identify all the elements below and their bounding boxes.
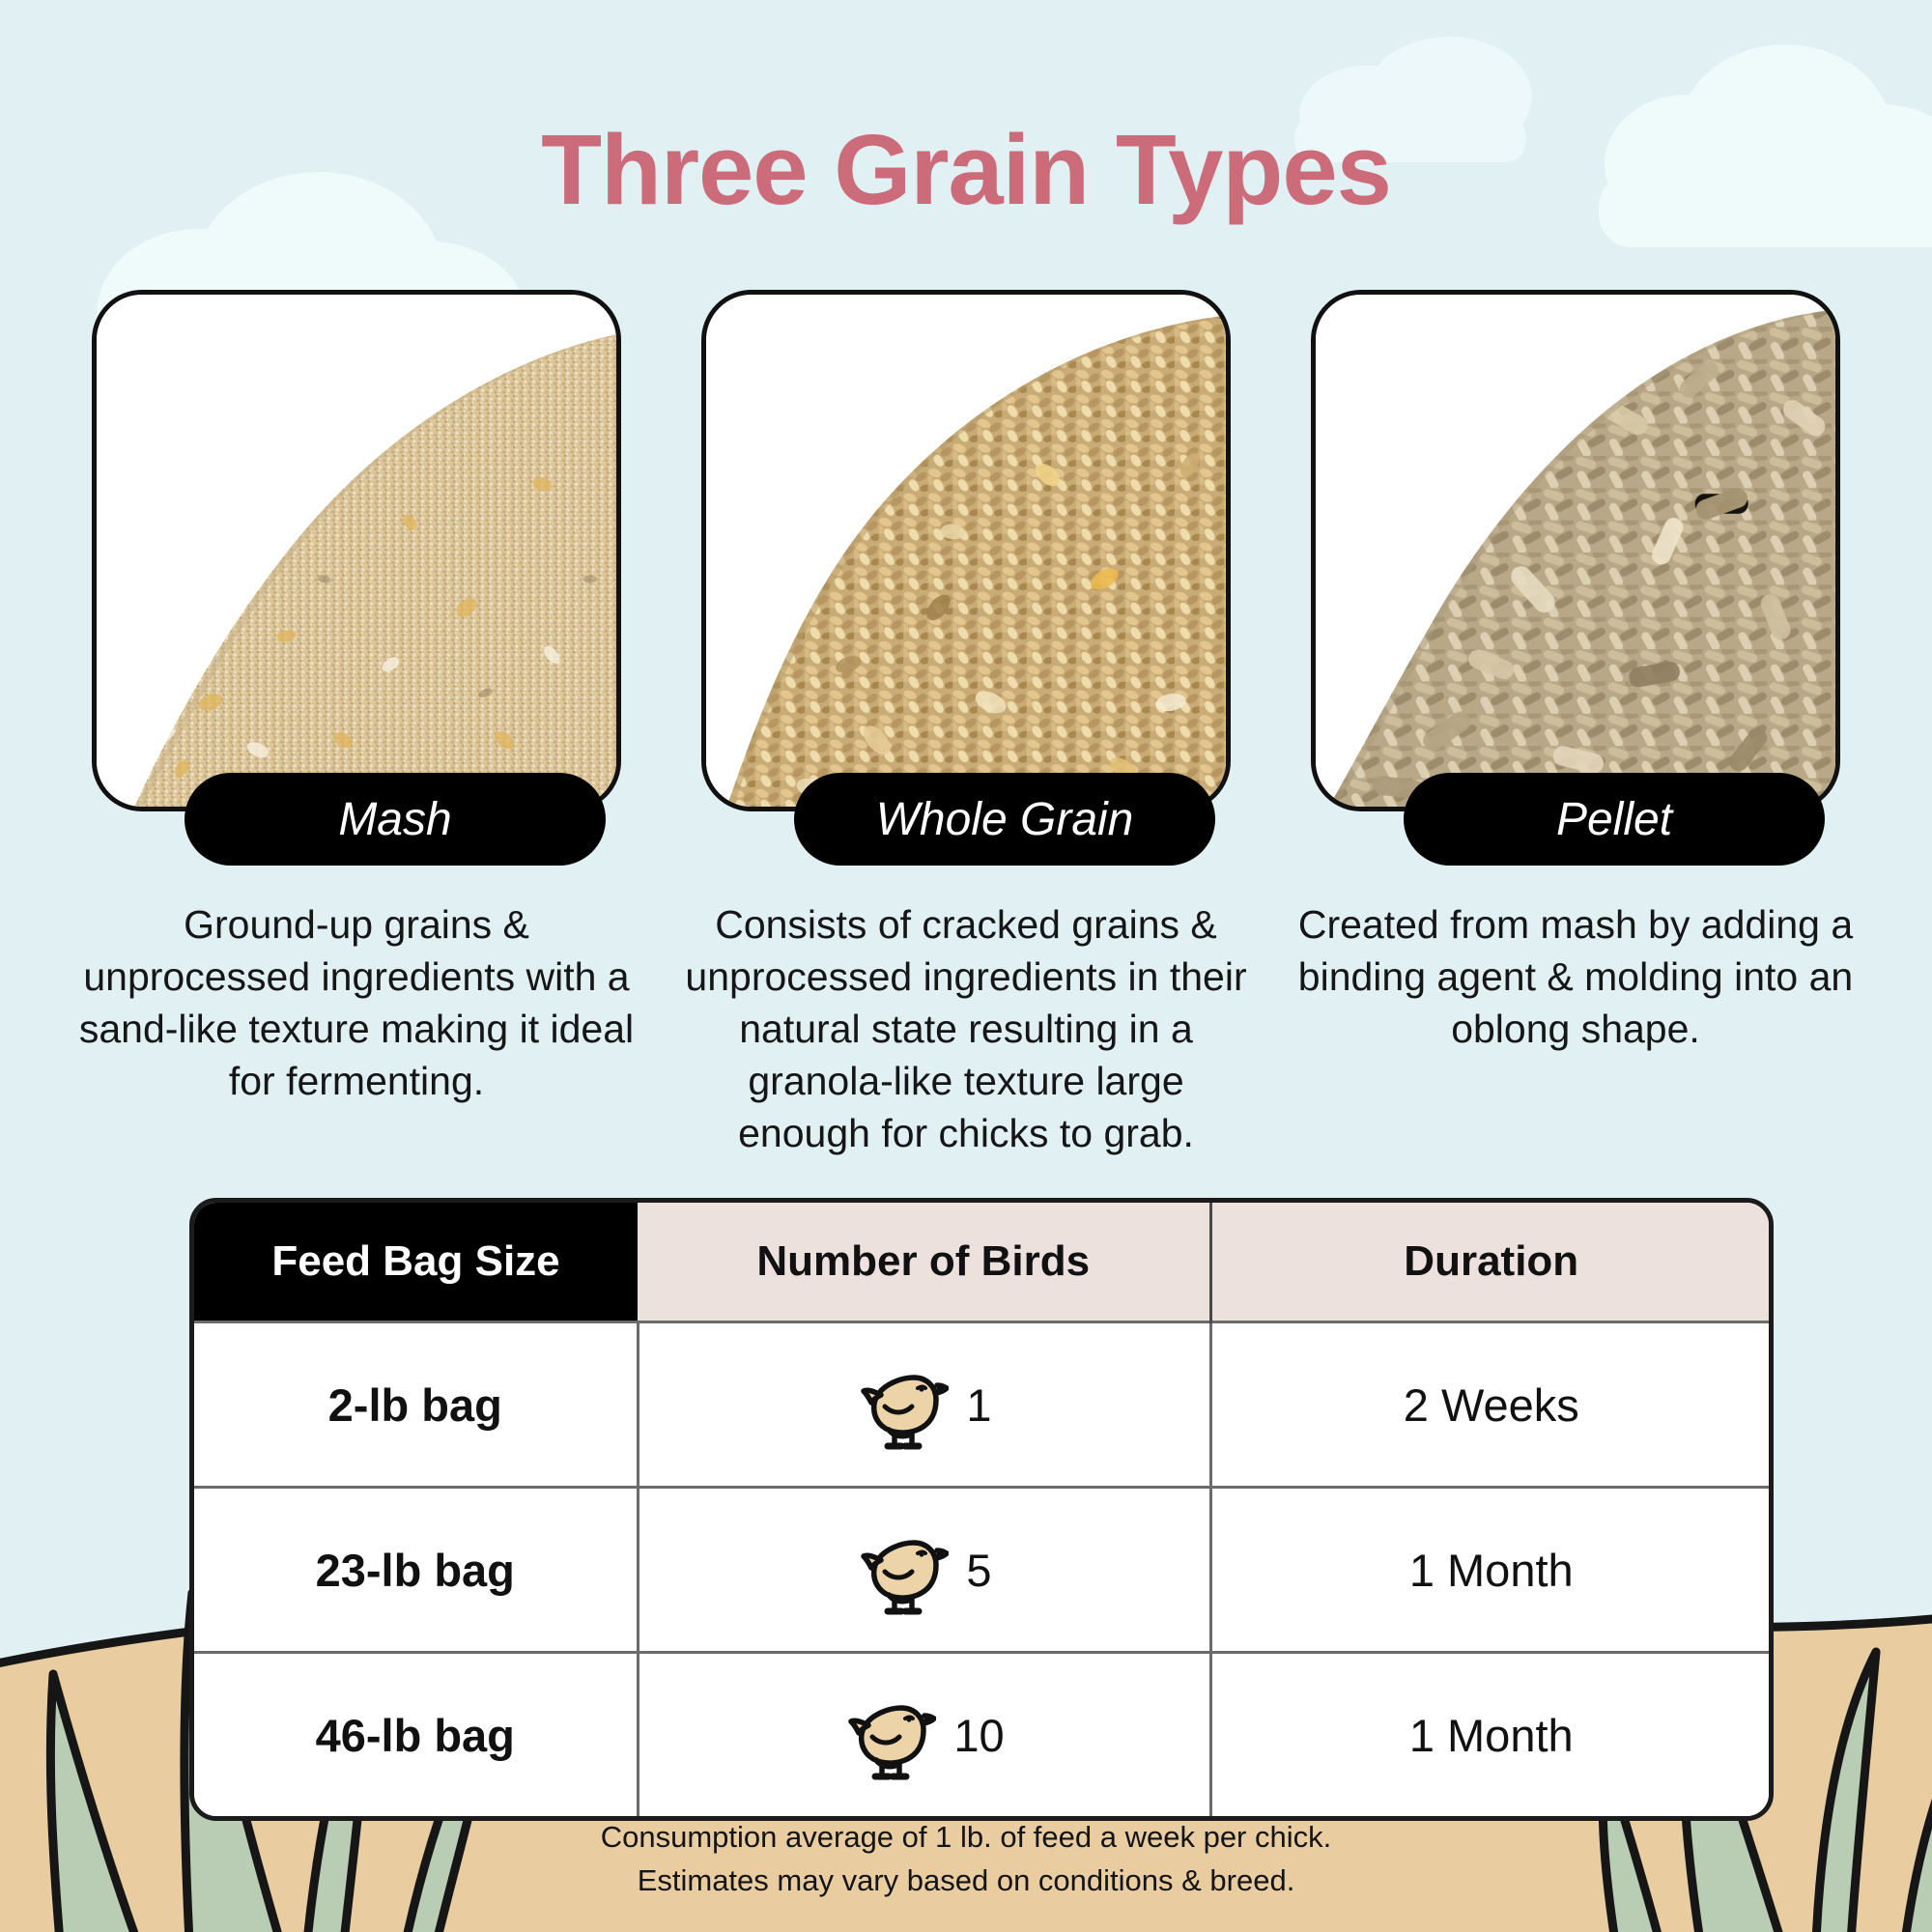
cell-number-of-birds: 1: [638, 1322, 1210, 1488]
grain-description-whole-grain: Consists of cracked grains & unprocessed…: [684, 898, 1248, 1160]
pellet-feed-photo: [1316, 295, 1835, 807]
chick-icon: [856, 1356, 949, 1453]
table-header-number-of-birds: Number of Birds: [638, 1203, 1210, 1322]
grain-label-text: Mash: [338, 793, 451, 846]
cell-number-of-birds: 5: [638, 1488, 1210, 1653]
footnote-line-1: Consumption average of 1 lb. of feed a w…: [0, 1816, 1932, 1860]
grain-description-pellet: Created from mash by adding a binding ag…: [1293, 898, 1858, 1055]
table-header-row: Feed Bag Size Number of Birds Duration: [194, 1203, 1771, 1322]
cell-bag-size: 2-lb bag: [194, 1322, 638, 1488]
birds-count: 10: [953, 1709, 1004, 1762]
grain-label-pill-whole-grain: Whole Grain: [794, 773, 1215, 866]
grain-label-pill-pellet: Pellet: [1404, 773, 1825, 866]
footnote: Consumption average of 1 lb. of feed a w…: [0, 1816, 1932, 1903]
cell-duration: 1 Month: [1210, 1653, 1771, 1817]
whole-grain-photo-frame: [701, 290, 1231, 811]
whole-grain-feed-photo: [706, 295, 1226, 807]
table-row: 46-lb bag: [194, 1653, 1771, 1817]
table-header-feed-bag-size: Feed Bag Size: [194, 1203, 638, 1322]
chick-icon: [856, 1521, 949, 1618]
grain-label-text: Pellet: [1556, 793, 1672, 846]
grain-description-mash: Ground-up grains & unprocessed ingredien…: [74, 898, 639, 1107]
infographic-canvas: Three Grain Types: [0, 0, 1932, 1932]
grain-label-pill-mash: Mash: [185, 773, 606, 866]
grain-card-mash: Mash Ground-up grains & unprocessed ingr…: [92, 290, 621, 811]
grain-card-pellet: Pellet Created from mash by adding a bin…: [1311, 290, 1840, 811]
mash-feed-photo: [97, 295, 616, 807]
table-row: 2-lb bag: [194, 1322, 1771, 1488]
footnote-line-2: Estimates may vary based on conditions &…: [0, 1860, 1932, 1903]
birds-count: 5: [966, 1544, 991, 1597]
cell-bag-size: 23-lb bag: [194, 1488, 638, 1653]
grain-card-whole-grain: Whole Grain Consists of cracked grains &…: [701, 290, 1231, 811]
table-row: 23-lb bag: [194, 1488, 1771, 1653]
table-header-duration: Duration: [1210, 1203, 1771, 1322]
grain-cards-row: Mash Ground-up grains & unprocessed ingr…: [92, 290, 1840, 811]
pellet-photo-frame: [1311, 290, 1840, 811]
chick-icon: [843, 1687, 936, 1783]
cell-duration: 2 Weeks: [1210, 1322, 1771, 1488]
cell-bag-size: 46-lb bag: [194, 1653, 638, 1817]
grain-label-text: Whole Grain: [876, 793, 1134, 846]
cell-number-of-birds: 10: [638, 1653, 1210, 1817]
page-title: Three Grain Types: [0, 118, 1932, 222]
feed-bag-table: Feed Bag Size Number of Birds Duration 2…: [189, 1198, 1774, 1821]
birds-count: 1: [966, 1378, 991, 1432]
mash-photo-frame: [92, 290, 621, 811]
cell-duration: 1 Month: [1210, 1488, 1771, 1653]
